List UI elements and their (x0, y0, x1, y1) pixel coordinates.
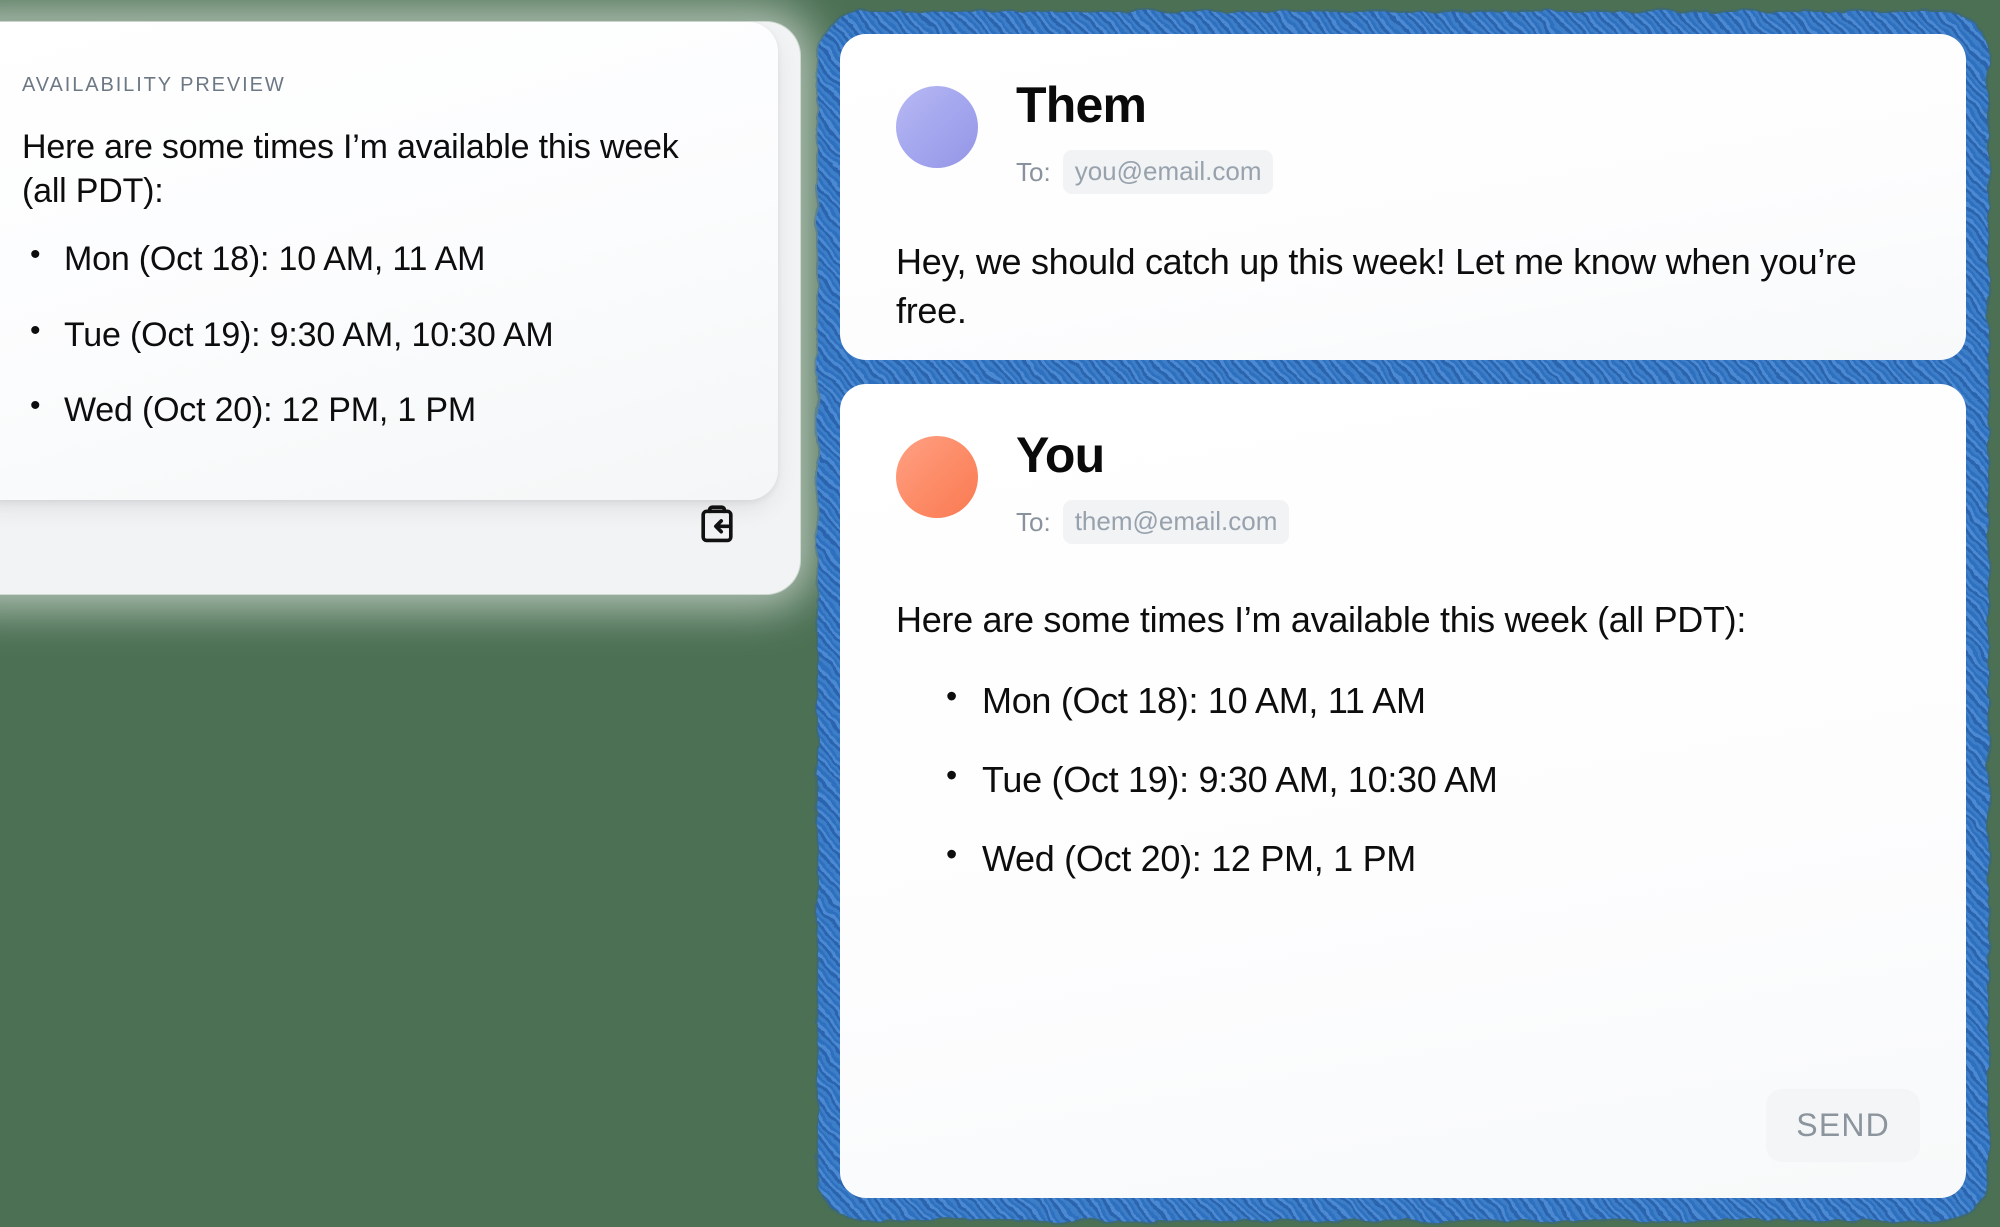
list-item: Tue (Oct 19): 9:30 AM, 10:30 AM (22, 315, 722, 356)
to-label: To: (1016, 157, 1051, 188)
sender-name-them: Them (1016, 80, 1273, 130)
recipient-chip-them[interactable]: you@email.com (1063, 150, 1274, 194)
message-body-you: Here are some times I’m available this w… (896, 596, 1908, 645)
preview-footer-bar (0, 478, 778, 570)
recipient-row-you: To: them@email.com (1016, 500, 1289, 544)
list-item: Wed (Oct 20): 12 PM, 1 PM (22, 390, 722, 431)
avatar-them (896, 86, 978, 168)
preview-times-list: Mon (Oct 18): 10 AM, 11 AM Tue (Oct 19):… (22, 239, 722, 431)
message-times-list: Mon (Oct 18): 10 AM, 11 AM Tue (Oct 19):… (896, 679, 1908, 881)
message-body-them: Hey, we should catch up this week! Let m… (896, 238, 1908, 336)
message-header: You To: them@email.com (896, 430, 1908, 544)
list-item: Mon (Oct 18): 10 AM, 11 AM (22, 239, 722, 280)
mail-thread-container: Them To: you@email.com Hey, we should ca… (840, 34, 1966, 1198)
avatar-you (896, 436, 978, 518)
sender-name-you: You (1016, 430, 1289, 480)
message-card-them: Them To: you@email.com Hey, we should ca… (840, 34, 1966, 360)
recipient-row-them: To: you@email.com (1016, 150, 1273, 194)
send-button[interactable]: SEND (1766, 1089, 1920, 1162)
recipient-chip-you[interactable]: them@email.com (1063, 500, 1290, 544)
paste-clipboard-icon[interactable] (694, 501, 740, 547)
list-item: Wed (Oct 20): 12 PM, 1 PM (938, 837, 1908, 880)
message-header: Them To: you@email.com (896, 80, 1908, 194)
list-item: Tue (Oct 19): 9:30 AM, 10:30 AM (938, 758, 1908, 801)
message-card-you: You To: them@email.com Here are some tim… (840, 384, 1966, 1198)
availability-preview-card: AVAILABILITY PREVIEW Here are some times… (0, 22, 778, 500)
preview-eyebrow-label: AVAILABILITY PREVIEW (22, 74, 722, 97)
availability-preview-panel: AVAILABILITY PREVIEW Here are some times… (0, 22, 800, 594)
preview-body-text: Here are some times I’m available this w… (22, 125, 722, 213)
to-label: To: (1016, 507, 1051, 538)
list-item: Mon (Oct 18): 10 AM, 11 AM (938, 679, 1908, 722)
